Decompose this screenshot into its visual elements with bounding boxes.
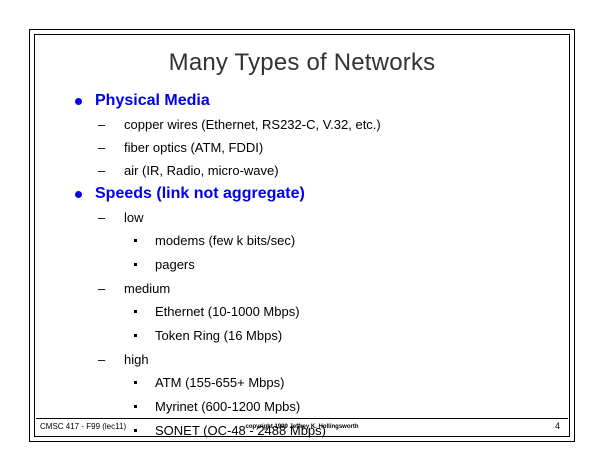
square-bullet-icon xyxy=(134,263,137,266)
bullet-text: fiber optics (ATM, FDDI) xyxy=(124,140,263,155)
bullet-item-level-3: modems (few k bits/sec) xyxy=(128,229,569,253)
bullet-item-level-3: Token Ring (16 Mbps) xyxy=(128,324,569,348)
bullet-text: medium xyxy=(124,281,170,296)
bullet-text: low xyxy=(124,210,144,225)
bullet-text: Speeds (link not aggregate) xyxy=(95,185,305,202)
bullet-text: ATM (155-655+ Mbps) xyxy=(155,375,284,390)
bullet-text: modems (few k bits/sec) xyxy=(155,233,295,248)
slide-footer: CMSC 417 - F99 (lec11) copyright 1999 Je… xyxy=(36,418,568,436)
dash-bullet-icon: – xyxy=(98,136,105,159)
disc-bullet-icon xyxy=(75,191,82,198)
bullet-item-level-1: Speeds (link not aggregate) xyxy=(73,182,569,206)
bullet-text: Ethernet (10-1000 Mbps) xyxy=(155,304,300,319)
bullet-text: Physical Media xyxy=(95,92,210,109)
page-title: Many Types of Networks xyxy=(35,49,569,77)
bullet-item-level-2: –high xyxy=(98,348,569,371)
disc-bullet-icon xyxy=(75,98,82,105)
bullet-item-level-3: pagers xyxy=(128,253,569,277)
bullet-text: Myrinet (600-1200 Mpbs) xyxy=(155,399,300,414)
bullet-item-level-3: Myrinet (600-1200 Mpbs) xyxy=(128,395,569,419)
bullet-item-level-2: –medium xyxy=(98,277,569,300)
square-bullet-icon xyxy=(134,334,137,337)
square-bullet-icon xyxy=(134,239,137,242)
bullet-item-level-3: Ethernet (10-1000 Mbps) xyxy=(128,300,569,324)
bullet-item-level-2: –low xyxy=(98,206,569,229)
square-bullet-icon xyxy=(134,405,137,408)
square-bullet-icon xyxy=(134,381,137,384)
bullet-item-level-1: Physical Media xyxy=(73,89,569,113)
slide-bullet-list: Physical Media–copper wires (Ethernet, R… xyxy=(35,89,569,410)
dash-bullet-icon: – xyxy=(98,206,105,229)
dash-bullet-icon: – xyxy=(98,113,105,136)
dash-bullet-icon: – xyxy=(98,159,105,182)
footer-page-number: 4 xyxy=(555,420,560,432)
slide-canvas: Many Types of Networks Physical Media–co… xyxy=(34,34,570,437)
bullet-text: pagers xyxy=(155,257,195,272)
square-bullet-icon xyxy=(134,310,137,313)
bullet-item-level-2: –copper wires (Ethernet, RS232-C, V.32, … xyxy=(98,113,569,136)
dash-bullet-icon: – xyxy=(98,277,105,300)
bullet-text: air (IR, Radio, micro-wave) xyxy=(124,163,279,178)
bullet-item-level-3: ATM (155-655+ Mbps) xyxy=(128,371,569,395)
bullet-text: copper wires (Ethernet, RS232-C, V.32, e… xyxy=(124,117,381,132)
dash-bullet-icon: – xyxy=(98,348,105,371)
bullet-text: Token Ring (16 Mbps) xyxy=(155,328,282,343)
bullet-item-level-2: –fiber optics (ATM, FDDI) xyxy=(98,136,569,159)
footer-copyright-label: copyright 1999 Jeffrey K. Hollingsworth xyxy=(36,423,568,432)
bullet-item-level-2: –air (IR, Radio, micro-wave) xyxy=(98,159,569,182)
slide-outer-frame: Many Types of Networks Physical Media–co… xyxy=(29,29,575,442)
bullet-text: high xyxy=(124,352,149,367)
